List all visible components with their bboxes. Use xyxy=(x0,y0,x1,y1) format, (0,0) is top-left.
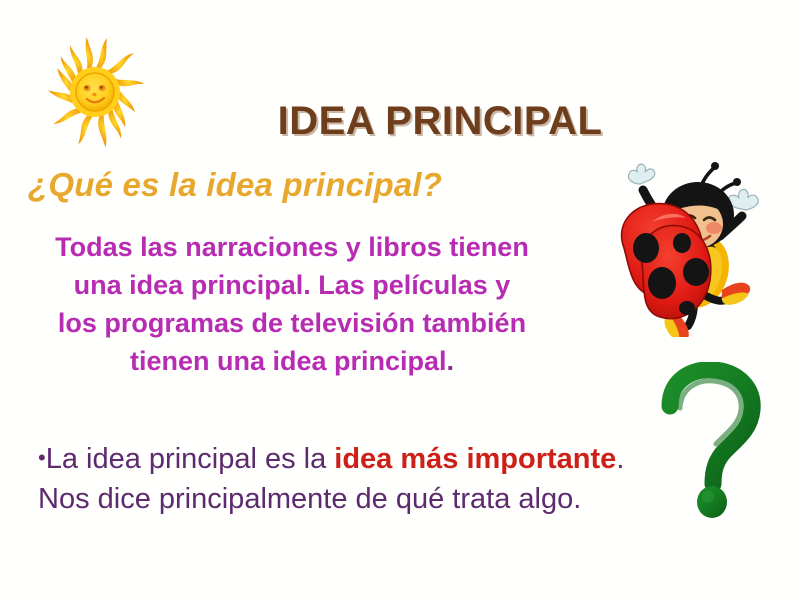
purple-paragraph: Todas las narraciones y libros tienen un… xyxy=(52,228,532,380)
bullet-glyph: • xyxy=(38,445,46,470)
sun-icon xyxy=(32,34,162,154)
purple-paragraph-text: Todas las narraciones y libros tienen un… xyxy=(55,232,529,376)
bullet-text-part-1: La idea principal es la xyxy=(46,443,335,475)
ladybug-icon xyxy=(594,152,784,337)
question-mark-icon xyxy=(656,362,776,527)
purple-paragraph-period: . xyxy=(447,346,455,376)
bullet-text-emphasis: idea más importante xyxy=(334,443,616,475)
slide-canvas: IDEA PRINCIPAL ¿Qué es la idea principal… xyxy=(0,0,800,600)
subtitle-question: ¿Qué es la idea principal? xyxy=(28,166,442,204)
page-title: IDEA PRINCIPAL xyxy=(180,99,700,144)
bullet-paragraph: •La idea principal es la idea más import… xyxy=(38,438,658,519)
